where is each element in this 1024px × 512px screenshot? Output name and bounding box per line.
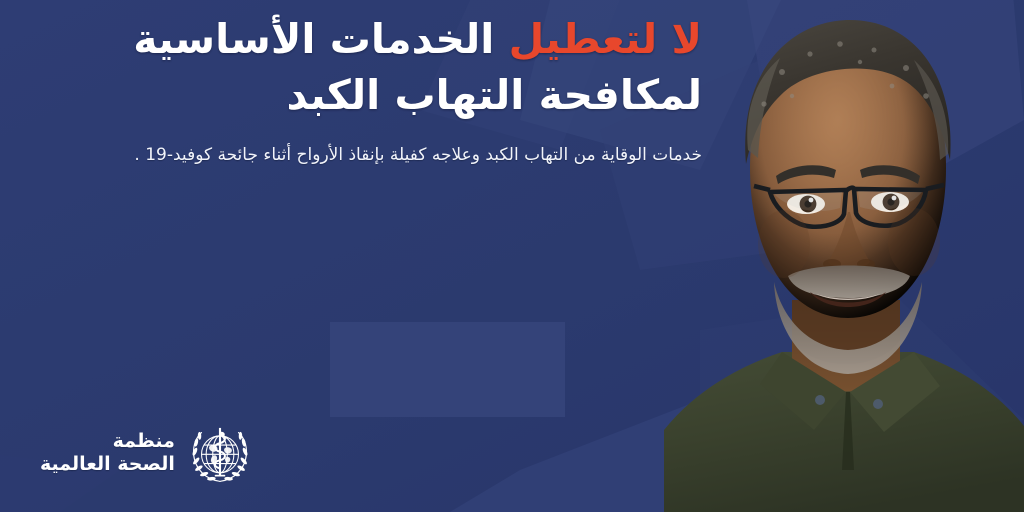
who-emblem-icon (187, 420, 253, 486)
who-logo-lockup: منظمة الصحة العالمية (40, 420, 253, 486)
headline-line-1-rest: الخدمات الأساسية (133, 15, 494, 63)
who-wordmark: منظمة الصحة العالمية (40, 430, 175, 476)
headline-accent: لا لتعطيل (509, 15, 702, 63)
subheadline: خدمات الوقاية من التهاب الكبد وعلاجه كفي… (62, 143, 702, 168)
headline-line-2: لمكافحة التهاب الكبد (62, 70, 702, 122)
headline-line-1: لا لتعطيل الخدمات الأساسية (62, 14, 702, 66)
who-wordmark-line-1: منظمة (40, 430, 175, 453)
who-campaign-banner: لا لتعطيل الخدمات الأساسية لمكافحة التها… (0, 0, 1024, 512)
who-wordmark-line-2: الصحة العالمية (40, 453, 175, 476)
copy-block: لا لتعطيل الخدمات الأساسية لمكافحة التها… (62, 14, 702, 168)
portrait-photo (664, 0, 1024, 512)
